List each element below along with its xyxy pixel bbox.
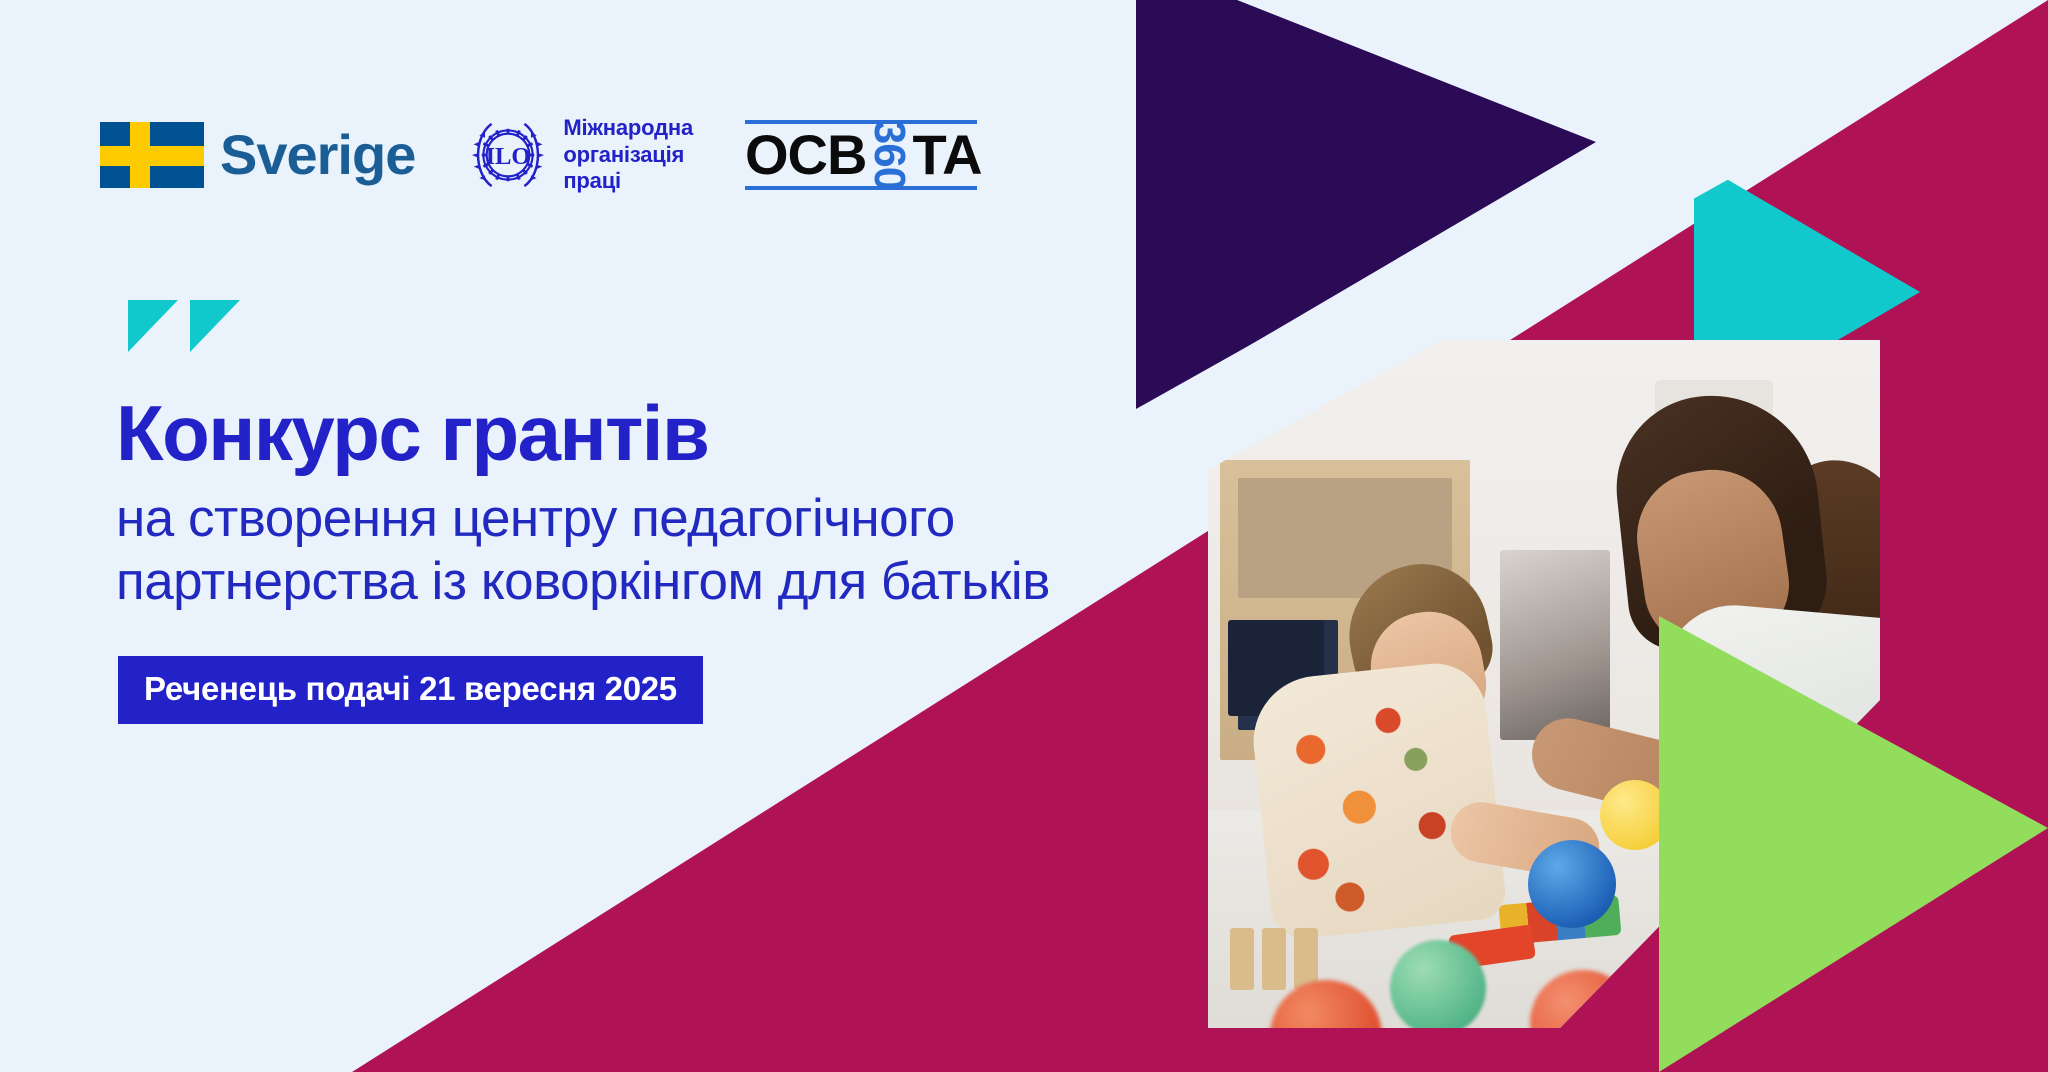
photo-ball-blue: [1528, 840, 1616, 928]
page-subtitle: на створення центру педагогічного партне…: [116, 488, 1050, 613]
content-column: Sverige: [0, 0, 1130, 1072]
page-title: Конкурс грантів: [116, 394, 708, 472]
osvita-bottom-rule: [745, 186, 977, 190]
quote-mark-icon: [128, 300, 244, 352]
osvita-part-2: ТА: [912, 127, 981, 183]
osvita-360-mark: 360: [866, 124, 912, 186]
ilo-wordmark: Міжнародна організація праці: [563, 115, 693, 195]
photo-ball-green: [1390, 940, 1486, 1036]
photo-child-dress: [1247, 658, 1508, 941]
osvita-part-1: ОСВ: [745, 127, 866, 183]
photo-wood-block: [1262, 928, 1286, 990]
svg-text:ILO: ILO: [486, 143, 531, 170]
grant-competition-banner: Sverige: [0, 0, 2048, 1072]
subtitle-line-2: партнерства із коворкінгом для батьків: [116, 551, 1050, 614]
logo-row: Sverige: [100, 112, 982, 198]
photo-wall-art: [1500, 550, 1610, 740]
subtitle-line-1: на створення центру педагогічного: [116, 488, 1050, 551]
ilo-emblem-icon: ILO: [467, 114, 549, 196]
photo-wood-block: [1230, 928, 1254, 990]
ilo-line-1: Міжнародна: [563, 115, 693, 142]
deadline-badge: Реченець подачі 21 вересня 2025: [118, 656, 703, 724]
swedish-flag-icon: [100, 122, 204, 188]
ilo-line-2: організація: [563, 142, 693, 169]
osvita-360-logo: ОСВ 360 ТА: [745, 112, 982, 198]
osvita-wordmark: ОСВ 360 ТА: [745, 124, 982, 186]
sverige-logo: Sverige: [100, 122, 415, 188]
ilo-logo: ILO Міжнародна організація праці: [467, 114, 693, 196]
sverige-wordmark: Sverige: [220, 127, 415, 183]
ilo-line-3: праці: [563, 168, 693, 195]
osvita-360-text: 360: [867, 120, 911, 190]
